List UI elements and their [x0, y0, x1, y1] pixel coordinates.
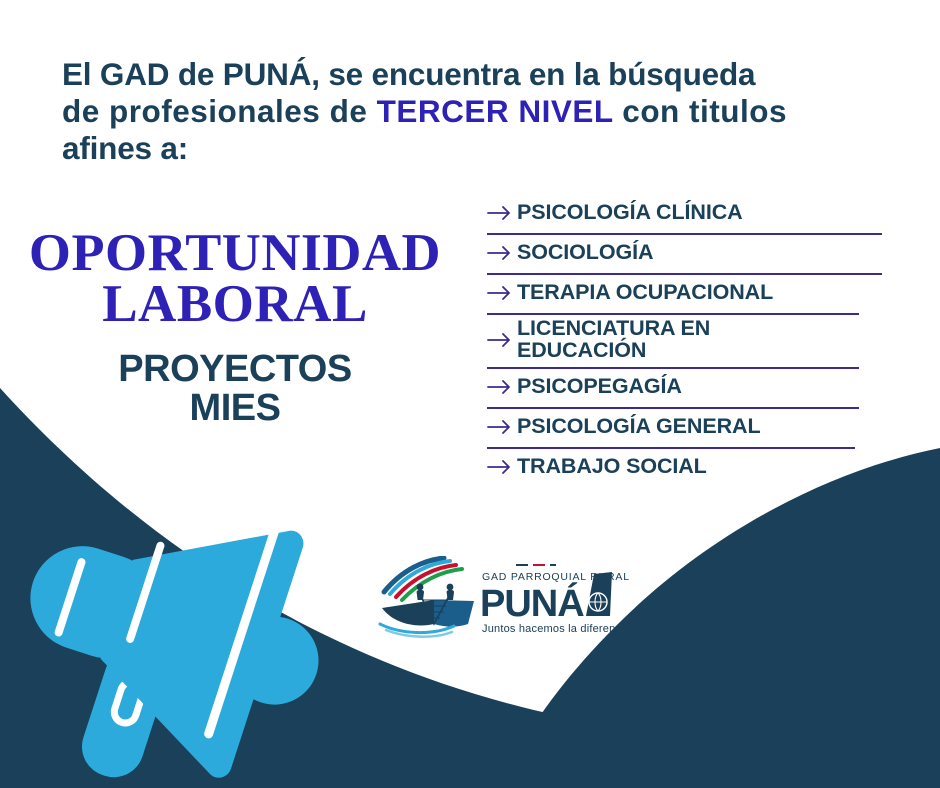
list-divider	[487, 407, 859, 409]
arrow-right-icon	[487, 205, 517, 221]
left-title-block: OPORTUNIDAD LABORAL PROYECTOS MIES	[0, 228, 470, 427]
list-item[interactable]: PSICOPEGAGÍA	[487, 370, 882, 406]
arrow-right-icon	[487, 379, 517, 395]
main-title-line-2: LABORAL	[0, 279, 470, 330]
list-item[interactable]: LICENCIATURA EN EDUCACIÓN	[487, 316, 882, 366]
sub-title-line-1: PROYECTOS	[0, 350, 470, 389]
headline-line-2-part-a: de profesionales de	[62, 93, 377, 129]
list-item-label: PSICOLOGÍA CLÍNICA	[517, 202, 743, 224]
list-divider	[487, 447, 855, 449]
list-item[interactable]: TERAPIA OCUPACIONAL	[487, 276, 882, 312]
arrow-right-icon	[487, 245, 517, 261]
list-item[interactable]: PSICOLOGÍA CLÍNICA	[487, 196, 882, 232]
logo-tagline: Juntos hacemos la diferencia	[482, 623, 630, 635]
list-item-label: LICENCIATURA EN EDUCACIÓN	[517, 318, 710, 362]
list-item-label: TRABAJO SOCIAL	[517, 456, 707, 478]
list-item-label: PSICOPEGAGÍA	[517, 376, 682, 398]
list-item[interactable]: SOCIOLOGÍA	[487, 236, 882, 272]
headline-line-2: de profesionales de TERCER NIVEL con tit…	[62, 93, 892, 130]
poster-canvas: El GAD de PUNÁ, se encuentra en la búsqu…	[0, 0, 940, 788]
headline-line-3: afines a:	[62, 130, 892, 167]
main-title-line-1: OPORTUNIDAD	[0, 228, 475, 279]
headline-line-2-part-b: con titulos	[613, 93, 787, 129]
arrow-right-icon	[487, 459, 517, 475]
sub-title: PROYECTOS MIES	[0, 350, 470, 428]
headline-accent-tercer-nivel: TERCER NIVEL	[377, 93, 613, 129]
main-title: OPORTUNIDAD LABORAL	[0, 228, 470, 330]
list-item-label: TERAPIA OCUPACIONAL	[517, 282, 773, 304]
list-divider	[487, 367, 859, 369]
logo-name: PUNÁ	[480, 581, 584, 625]
megaphone-icon	[10, 430, 370, 788]
puna-logo: GAD PARROQUIAL RURAL PUNÁ Juntos hacemos…	[378, 556, 630, 642]
arrow-right-icon	[487, 285, 517, 301]
list-item-label: PSICOLOGÍA GENERAL	[517, 416, 760, 438]
list-item-label: SOCIOLOGÍA	[517, 242, 653, 264]
sub-title-line-2: MIES	[0, 389, 470, 428]
arrow-right-icon	[487, 332, 517, 348]
headline: El GAD de PUNÁ, se encuentra en la búsqu…	[62, 56, 892, 167]
list-divider	[487, 273, 882, 275]
list-divider	[487, 313, 859, 315]
headline-line-1: El GAD de PUNÁ, se encuentra en la búsqu…	[62, 56, 892, 93]
requirements-list: PSICOLOGÍA CLÍNICA SOCIOLOGÍA TERAPIA OC…	[487, 196, 882, 486]
list-divider	[487, 233, 882, 235]
list-item[interactable]: TRABAJO SOCIAL	[487, 450, 882, 486]
list-item[interactable]: PSICOLOGÍA GENERAL	[487, 410, 882, 446]
arrow-right-icon	[487, 419, 517, 435]
